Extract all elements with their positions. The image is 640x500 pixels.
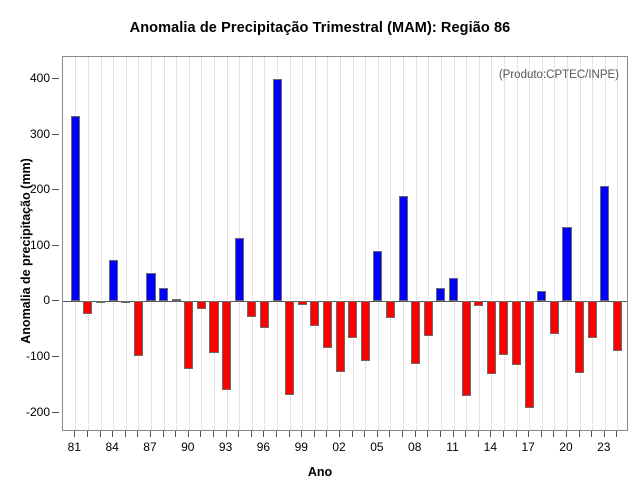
bar bbox=[310, 301, 319, 325]
bar bbox=[399, 196, 408, 302]
x-tick-mark bbox=[87, 431, 88, 437]
x-tick-mark bbox=[137, 431, 138, 437]
bar bbox=[336, 301, 345, 372]
bar bbox=[411, 301, 420, 363]
x-tick-mark bbox=[289, 431, 290, 437]
bar bbox=[83, 301, 92, 313]
gridline bbox=[88, 57, 90, 430]
bar bbox=[386, 301, 395, 318]
x-tick-label: 96 bbox=[257, 440, 270, 454]
x-tick-mark bbox=[112, 431, 113, 437]
x-tick-mark bbox=[125, 431, 126, 437]
bar bbox=[436, 288, 445, 302]
x-tick-mark bbox=[503, 431, 504, 437]
gridline bbox=[189, 57, 191, 430]
x-tick-mark bbox=[377, 431, 378, 437]
bar bbox=[449, 278, 458, 301]
chart-title: Anomalia de Precipitação Trimestral (MAM… bbox=[0, 20, 640, 36]
x-tick-label: 05 bbox=[370, 440, 383, 454]
gridline bbox=[214, 57, 216, 430]
x-tick-mark bbox=[440, 431, 441, 437]
bar bbox=[575, 301, 584, 372]
x-tick-mark bbox=[326, 431, 327, 437]
gridline bbox=[592, 57, 594, 430]
x-tick-label: 93 bbox=[219, 440, 232, 454]
bar bbox=[222, 301, 231, 390]
bar bbox=[109, 260, 118, 301]
bar bbox=[146, 273, 155, 302]
x-tick-mark bbox=[579, 431, 580, 437]
gridline bbox=[491, 57, 493, 430]
x-tick-mark bbox=[226, 431, 227, 437]
gridline bbox=[390, 57, 392, 430]
x-tick-mark bbox=[150, 431, 151, 437]
x-tick-mark bbox=[276, 431, 277, 437]
x-tick-mark bbox=[604, 431, 605, 437]
gridline bbox=[113, 57, 115, 430]
x-tick-mark bbox=[541, 431, 542, 437]
y-tick-mark bbox=[52, 245, 59, 246]
y-tick-label: 0 bbox=[43, 293, 50, 307]
bar bbox=[197, 301, 206, 308]
y-tick-label: -200 bbox=[26, 405, 50, 419]
x-tick-mark bbox=[389, 431, 390, 437]
bar bbox=[285, 301, 294, 394]
gridline bbox=[164, 57, 166, 430]
x-tick-mark bbox=[616, 431, 617, 437]
x-tick-mark bbox=[402, 431, 403, 437]
bar bbox=[134, 301, 143, 355]
bar bbox=[184, 301, 193, 369]
x-tick-label: 14 bbox=[484, 440, 497, 454]
x-tick-label: 20 bbox=[559, 440, 572, 454]
chart-figure: Anomalia de Precipitação Trimestral (MAM… bbox=[0, 0, 640, 500]
gridline bbox=[504, 57, 506, 430]
x-tick-mark bbox=[238, 431, 239, 437]
bar bbox=[562, 227, 571, 301]
gridline bbox=[315, 57, 317, 430]
x-tick-label: 90 bbox=[181, 440, 194, 454]
zero-baseline bbox=[63, 301, 627, 302]
x-tick-mark bbox=[478, 431, 479, 437]
gridline bbox=[479, 57, 481, 430]
x-tick-mark bbox=[352, 431, 353, 437]
x-tick-mark bbox=[415, 431, 416, 437]
x-tick-mark bbox=[427, 431, 428, 437]
x-tick-mark bbox=[163, 431, 164, 437]
x-tick-mark bbox=[314, 431, 315, 437]
y-tick-mark bbox=[52, 300, 59, 301]
y-tick-mark bbox=[52, 78, 59, 79]
x-tick-label: 17 bbox=[521, 440, 534, 454]
x-tick-mark bbox=[213, 431, 214, 437]
gridline bbox=[151, 57, 153, 430]
x-tick-mark bbox=[100, 431, 101, 437]
x-tick-mark bbox=[591, 431, 592, 437]
gridline bbox=[126, 57, 128, 430]
bar bbox=[159, 288, 168, 301]
bar bbox=[613, 301, 622, 351]
x-tick-label: 02 bbox=[332, 440, 345, 454]
source-annotation: (Produto:CPTEC/INPE) bbox=[499, 69, 619, 81]
y-tick-label: 400 bbox=[30, 71, 50, 85]
x-tick-label: 81 bbox=[68, 440, 81, 454]
bar bbox=[298, 301, 307, 304]
x-tick-mark bbox=[263, 431, 264, 437]
x-tick-mark bbox=[175, 431, 176, 437]
gridline bbox=[441, 57, 443, 430]
x-tick-mark bbox=[528, 431, 529, 437]
bar bbox=[600, 186, 609, 301]
x-tick-mark bbox=[200, 431, 201, 437]
bar bbox=[348, 301, 357, 338]
y-tick-mark bbox=[52, 412, 59, 413]
gridline bbox=[580, 57, 582, 430]
x-tick-mark bbox=[301, 431, 302, 437]
bar bbox=[247, 301, 256, 317]
x-tick-label: 23 bbox=[597, 440, 610, 454]
plot-area: (Produto:CPTEC/INPE) bbox=[62, 56, 628, 431]
bar bbox=[474, 301, 483, 306]
y-tick-mark bbox=[52, 356, 59, 357]
bar bbox=[550, 301, 559, 333]
gridline bbox=[416, 57, 418, 430]
bar bbox=[537, 291, 546, 302]
gridline bbox=[378, 57, 380, 430]
gridline bbox=[201, 57, 203, 430]
bar bbox=[588, 301, 597, 337]
x-tick-mark bbox=[74, 431, 75, 437]
bar bbox=[462, 301, 471, 396]
x-tick-label: 11 bbox=[446, 440, 458, 454]
gridline bbox=[340, 57, 342, 430]
bar bbox=[260, 301, 269, 327]
bar bbox=[525, 301, 534, 408]
bar bbox=[235, 238, 244, 301]
gridline bbox=[264, 57, 266, 430]
gridline bbox=[454, 57, 456, 430]
bar bbox=[209, 301, 218, 352]
gridline bbox=[101, 57, 103, 430]
x-tick-label: 84 bbox=[105, 440, 118, 454]
x-tick-mark bbox=[339, 431, 340, 437]
x-tick-mark bbox=[251, 431, 252, 437]
gridline bbox=[428, 57, 430, 430]
x-tick-label: 99 bbox=[295, 440, 308, 454]
gridline bbox=[302, 57, 304, 430]
gridline bbox=[176, 57, 178, 430]
bar bbox=[361, 301, 370, 360]
x-tick-mark bbox=[516, 431, 517, 437]
x-tick-mark bbox=[453, 431, 454, 437]
gridline bbox=[138, 57, 140, 430]
gridline bbox=[554, 57, 556, 430]
x-axis-title: Ano bbox=[0, 465, 640, 479]
gridline bbox=[517, 57, 519, 430]
x-tick-label: 08 bbox=[408, 440, 421, 454]
gridline bbox=[365, 57, 367, 430]
bar bbox=[71, 116, 80, 301]
gridline bbox=[252, 57, 254, 430]
x-tick-mark bbox=[188, 431, 189, 437]
bar bbox=[373, 251, 382, 302]
bar bbox=[499, 301, 508, 354]
x-tick-mark bbox=[465, 431, 466, 437]
x-tick-mark bbox=[566, 431, 567, 437]
x-tick-label: 87 bbox=[143, 440, 156, 454]
bar bbox=[323, 301, 332, 347]
y-axis-title: Anomalia de precipitação (mm) bbox=[19, 121, 33, 381]
bar bbox=[424, 301, 433, 336]
bar bbox=[487, 301, 496, 373]
x-tick-mark bbox=[553, 431, 554, 437]
gridline bbox=[542, 57, 544, 430]
y-tick-mark bbox=[52, 134, 59, 135]
y-tick-mark bbox=[52, 189, 59, 190]
x-tick-mark bbox=[490, 431, 491, 437]
gridline bbox=[327, 57, 329, 430]
x-tick-mark bbox=[364, 431, 365, 437]
gridline bbox=[353, 57, 355, 430]
bar bbox=[96, 301, 105, 303]
bar bbox=[512, 301, 521, 364]
gridline bbox=[617, 57, 619, 430]
bar bbox=[273, 79, 282, 301]
bar bbox=[172, 299, 181, 302]
bar bbox=[121, 301, 130, 303]
